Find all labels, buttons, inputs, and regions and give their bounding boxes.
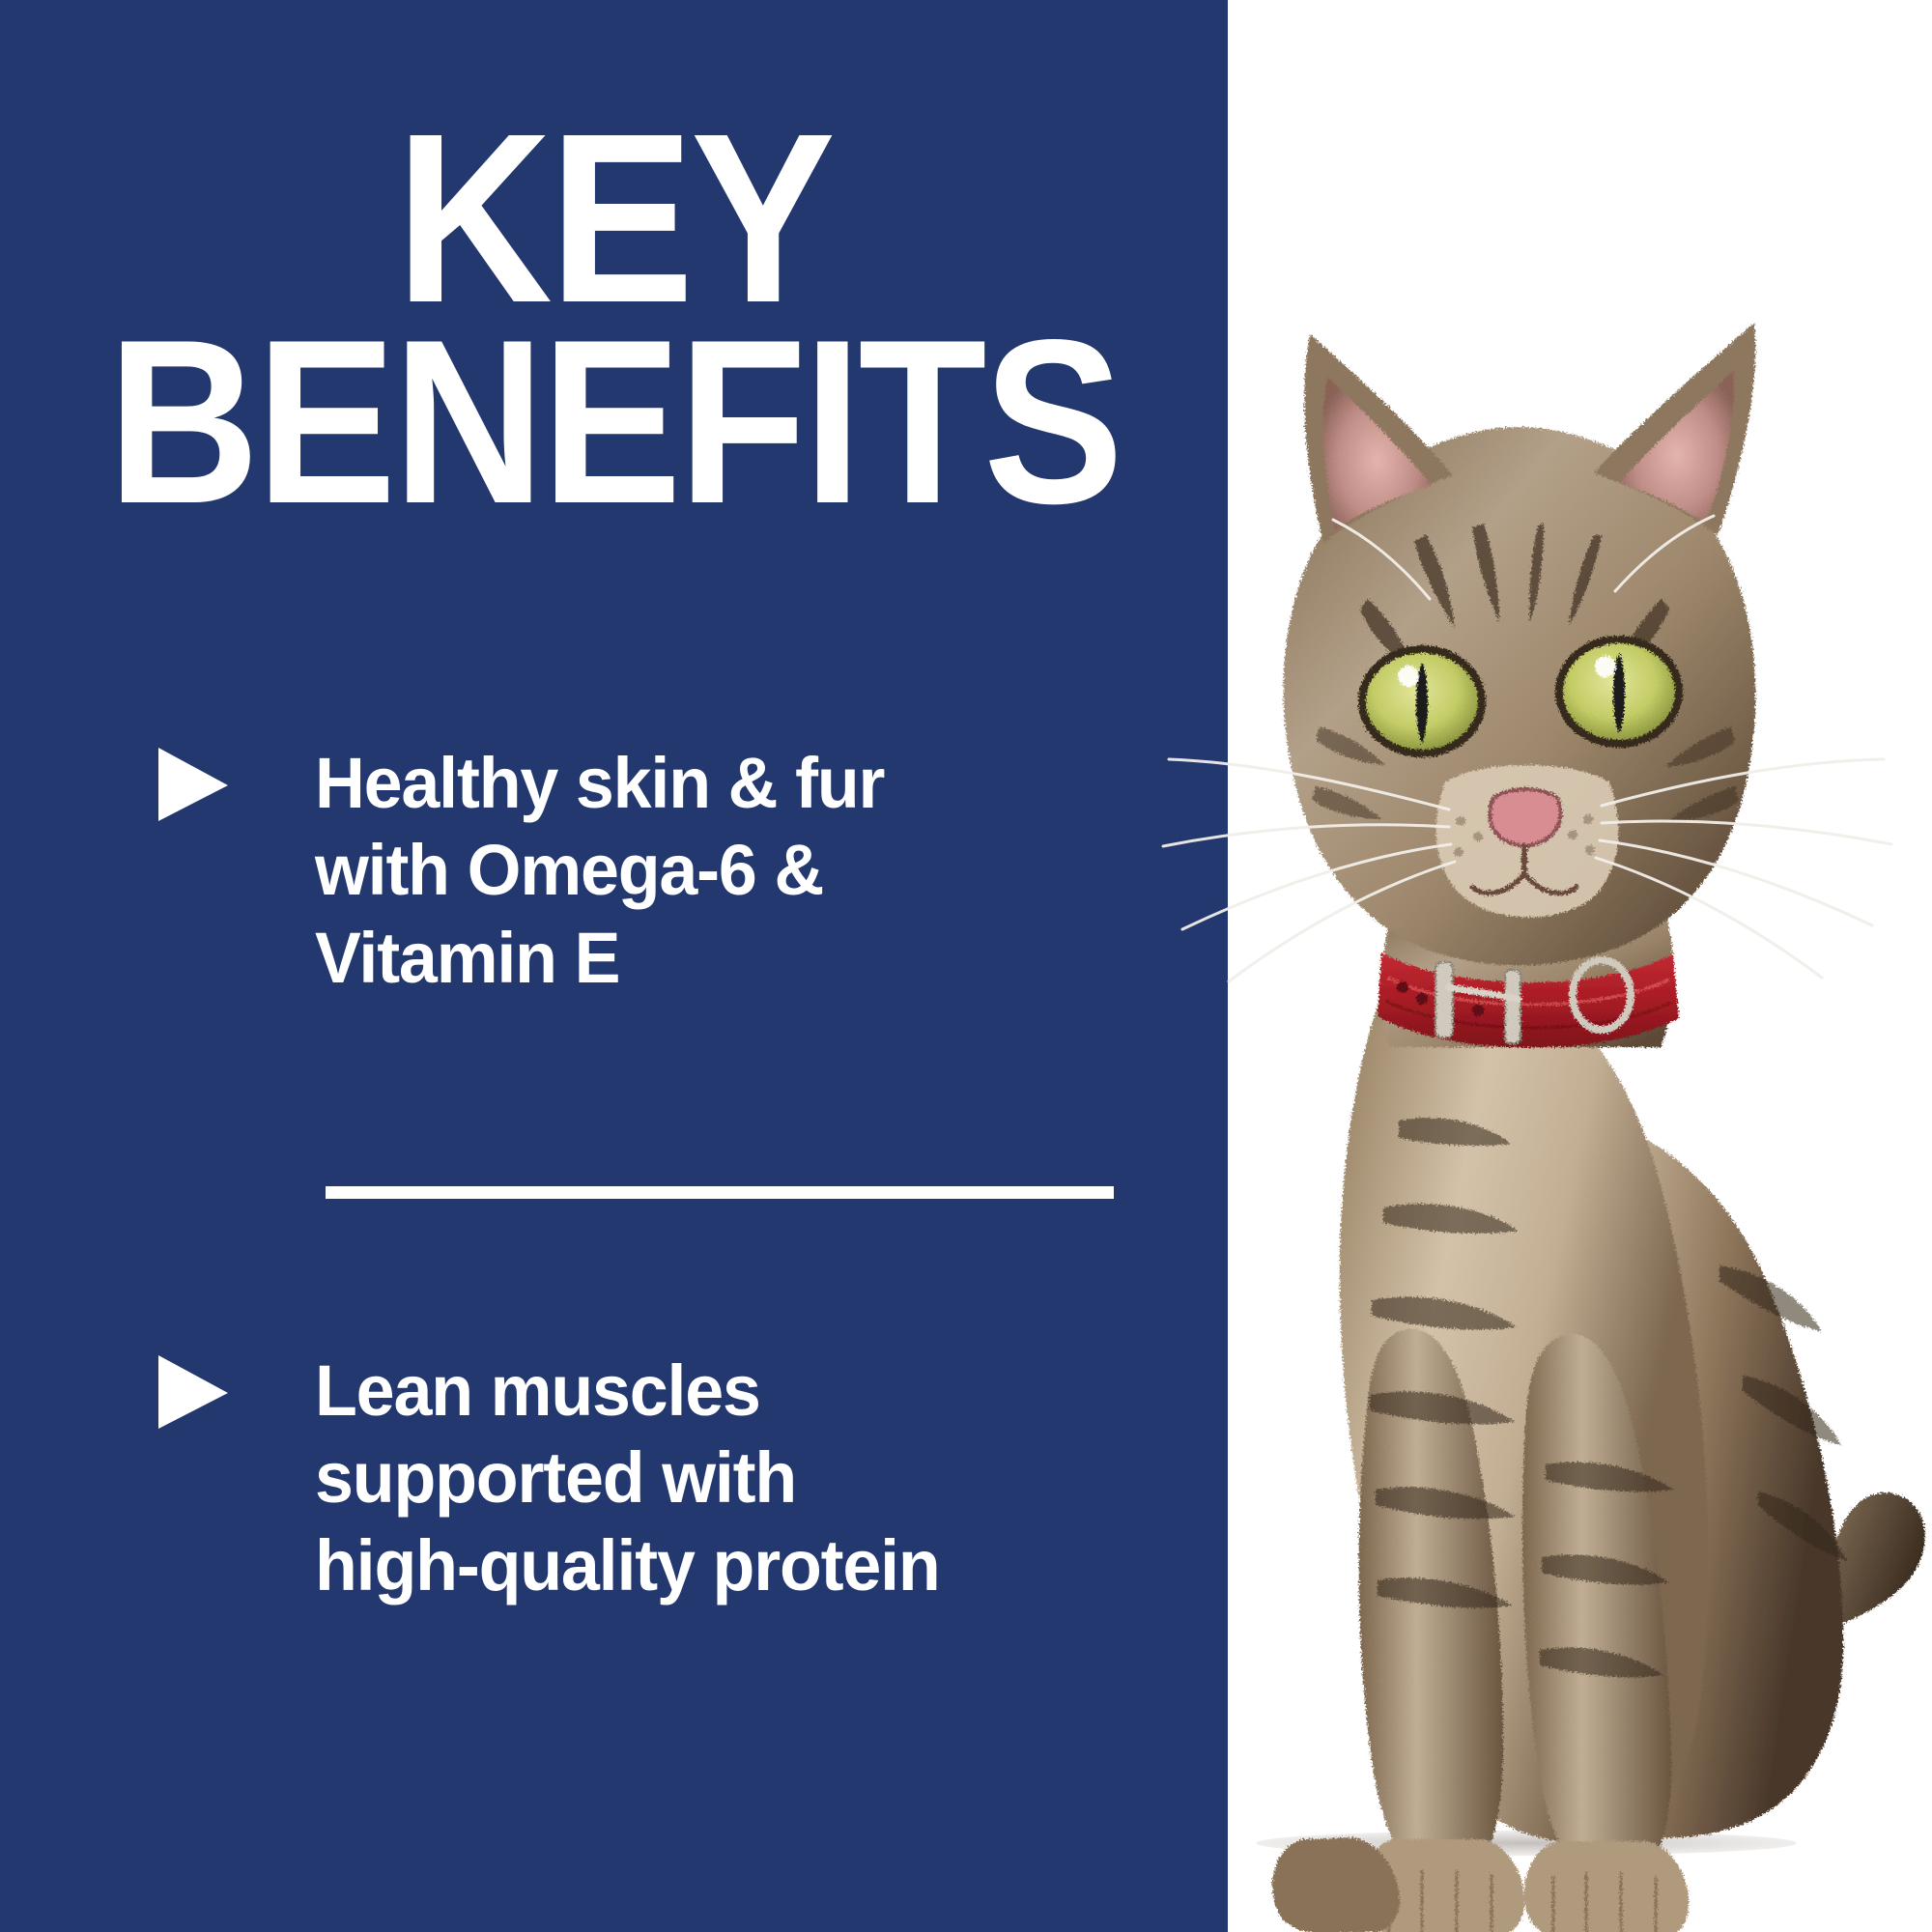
- triangle-bullet-icon: [155, 1353, 230, 1431]
- cat-ground-shadow: [1256, 1831, 1797, 1856]
- page-title-line-2: BENEFITS: [62, 322, 1167, 523]
- photo-pane: [1228, 0, 1932, 1932]
- page-title-line-1: KEY: [62, 114, 1167, 322]
- benefit-2-line-1: Lean muscles: [315, 1348, 1152, 1435]
- benefit-2-line-2: supported with: [315, 1435, 1152, 1521]
- key-benefits-panel: KEY BENEFITS Healthy skin & fur with Ome…: [0, 0, 1932, 1932]
- benefit-1-line-3: Vitamin E: [315, 915, 1152, 1002]
- benefit-1-line-2: with Omega-6 &: [315, 827, 1152, 914]
- page-title: KEY BENEFITS: [62, 114, 1167, 523]
- benefit-item-2: Lean muscles supported with high-quality…: [155, 1348, 1179, 1609]
- triangle-bullet-icon: [155, 746, 230, 823]
- benefit-1-line-1: Healthy skin & fur: [315, 740, 1152, 827]
- benefit-divider: [326, 1186, 1114, 1199]
- benefit-item-1-text: Healthy skin & fur with Omega-6 & Vitami…: [315, 740, 1152, 1002]
- benefit-item-1: Healthy skin & fur with Omega-6 & Vitami…: [155, 740, 1179, 1002]
- benefit-2-line-3: high-quality protein: [315, 1522, 1152, 1609]
- benefit-item-2-text: Lean muscles supported with high-quality…: [315, 1348, 1152, 1609]
